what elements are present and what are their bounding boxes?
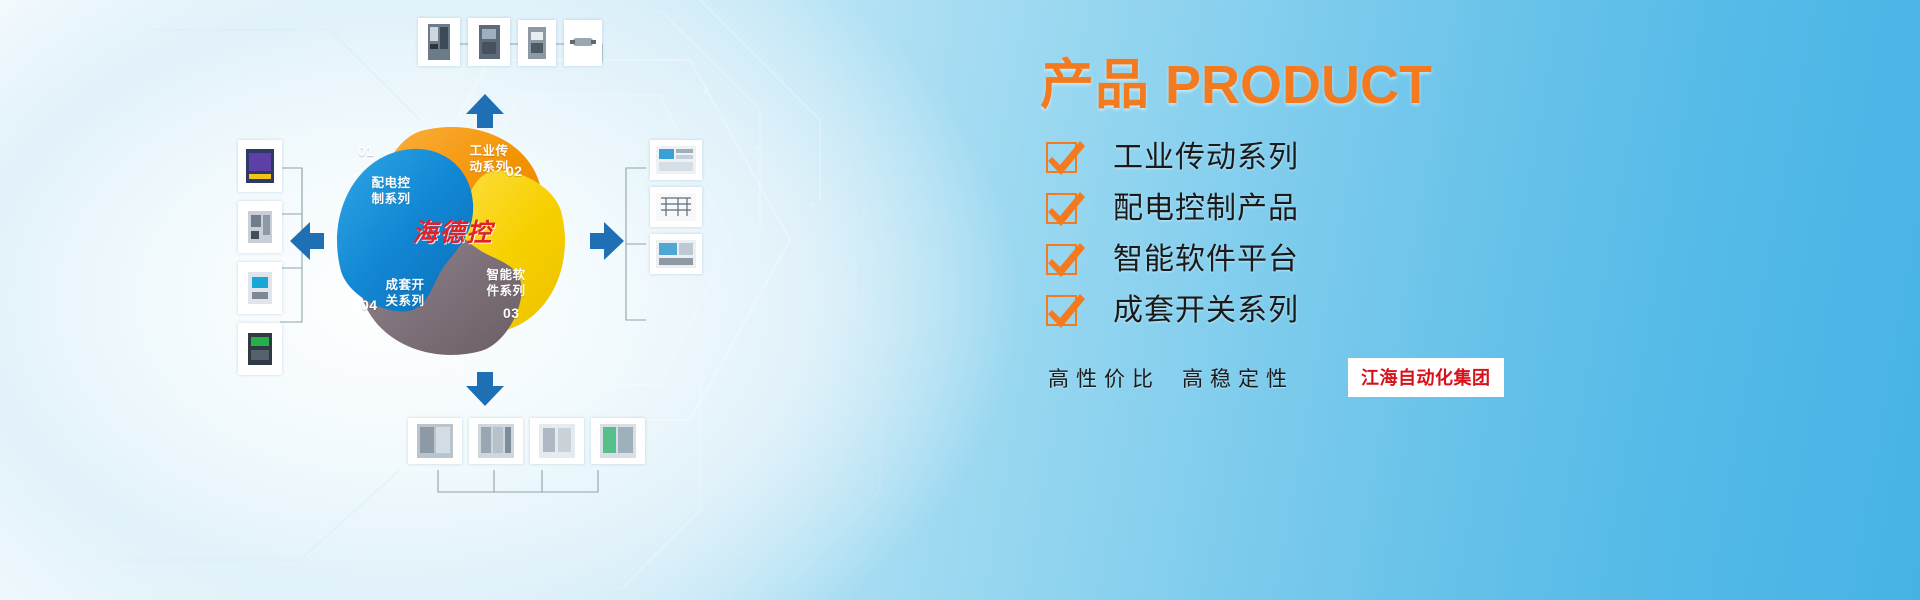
content-panel: 产品 PRODUCT 工业传动系列 配电控制产品 bbox=[1040, 0, 1740, 600]
checkbox-checked-icon bbox=[1046, 193, 1077, 224]
thumbnail-group-right bbox=[650, 140, 702, 274]
list-item-label: 配电控制产品 bbox=[1113, 194, 1299, 224]
page-title: 产品 PRODUCT bbox=[1040, 58, 1432, 112]
product-thumbnail bbox=[238, 140, 282, 192]
tagline-left: 高性价比 bbox=[1048, 363, 1160, 393]
product-thumbnail bbox=[468, 18, 510, 66]
list-item[interactable]: 配电控制产品 bbox=[1046, 183, 1666, 234]
thumbnail-group-top bbox=[418, 18, 602, 66]
headline-cn: 产品 bbox=[1040, 55, 1150, 115]
feature-list: 工业传动系列 配电控制产品 智能软件平台 bbox=[1046, 132, 1666, 336]
status-badge: 江海自动化集团 bbox=[1348, 358, 1504, 397]
list-item-label: 智能软件平台 bbox=[1113, 245, 1299, 275]
product-thumbnail bbox=[238, 262, 282, 314]
list-item-label: 成套开关系列 bbox=[1113, 296, 1299, 326]
product-banner: 01 工业传动系列 02 智能软件系列 03 成套开关系列 04 配电控制系列 … bbox=[0, 0, 1920, 600]
product-thumbnail bbox=[530, 418, 584, 464]
arrow-right-icon bbox=[590, 222, 624, 260]
cycle-wheel: 01 工业传动系列 02 智能软件系列 03 成套开关系列 04 配电控制系列 … bbox=[325, 115, 575, 365]
product-thumbnail bbox=[408, 418, 462, 464]
checkbox-checked-icon bbox=[1046, 295, 1077, 326]
arrow-left-icon bbox=[290, 222, 324, 260]
list-item[interactable]: 智能软件平台 bbox=[1046, 234, 1666, 285]
product-thumbnail bbox=[650, 234, 702, 274]
thumbnail-group-bottom bbox=[408, 418, 645, 464]
tagline-right: 高稳定性 bbox=[1182, 363, 1294, 393]
product-thumbnail bbox=[650, 187, 702, 227]
tagline-row: 高性价比 高稳定性 江海自动化集团 bbox=[1048, 358, 1504, 397]
thumbnail-group-left bbox=[238, 140, 282, 375]
product-thumbnail bbox=[469, 418, 523, 464]
product-thumbnail bbox=[650, 140, 702, 180]
list-item[interactable]: 成套开关系列 bbox=[1046, 285, 1666, 336]
product-cycle-diagram: 01 工业传动系列 02 智能软件系列 03 成套开关系列 04 配电控制系列 … bbox=[150, 0, 830, 600]
arrow-down-icon bbox=[466, 372, 504, 406]
list-item[interactable]: 工业传动系列 bbox=[1046, 132, 1666, 183]
checkbox-checked-icon bbox=[1046, 244, 1077, 275]
product-thumbnail bbox=[518, 20, 556, 66]
product-thumbnail bbox=[238, 201, 282, 253]
checkbox-checked-icon bbox=[1046, 142, 1077, 173]
product-thumbnail bbox=[564, 20, 602, 66]
product-thumbnail bbox=[591, 418, 645, 464]
headline-en: PRODUCT bbox=[1150, 55, 1432, 115]
list-item-label: 工业传动系列 bbox=[1113, 143, 1299, 173]
product-thumbnail bbox=[418, 18, 460, 66]
product-thumbnail bbox=[238, 323, 282, 375]
